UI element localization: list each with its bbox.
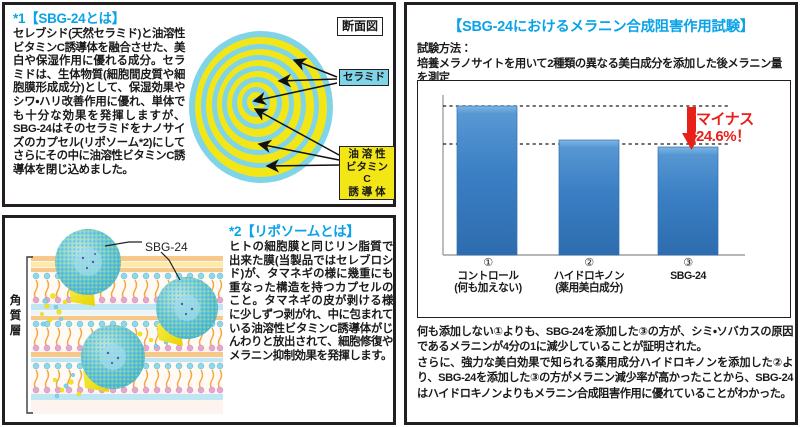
x-axis-label-control: ① コントロール (何も加えない): [442, 257, 534, 295]
skin-layer-diagram: SBG-24: [9, 224, 225, 420]
stratum-corneum-label: 角質層: [9, 294, 22, 339]
x-label-control-line2: (何も加えない): [442, 282, 534, 295]
sbg24-text-block: *1【SBG-24とは】 セレブシド(天然セラミド)と油溶性ビタミンC誘導体を融…: [13, 11, 185, 178]
x-label-sbg24-line1: SBG-24: [642, 270, 734, 283]
x-label-control-line1: コントロール: [442, 270, 534, 283]
chip-vitc-line-2: ビタミンC: [343, 161, 391, 186]
liposome-heading: *2【リポソームとは】: [229, 224, 393, 240]
bar-control: [457, 106, 517, 255]
test-method-block: 試験方法： 培養メラノサイトを用いて2種類の異なる美白成分を添加した後メラニン量…: [417, 42, 789, 86]
sbg24-callout-label: SBG-24: [145, 240, 188, 254]
liposome-text-block: *2【リポソームとは】 ヒトの細胞膜と同じリン脂質で出来た膜(当製品ではセレブロ…: [229, 224, 393, 363]
test-title: 【SBG-24におけるメラニン合成阻害作用試験】: [407, 15, 795, 36]
decrease-annotation-line-2: 24.6%！: [696, 128, 754, 145]
panel-sbg24: *1【SBG-24とは】 セレブシド(天然セラミド)と油溶性ビタミンC誘導体を融…: [2, 2, 396, 207]
panel-liposome: SBG-24 角質層 *2【リポソームとは】 ヒトの細胞膜と同じリン脂質で出来た…: [2, 215, 396, 425]
conclusion-paragraph-1: 何も添加しない①よりも、SBG-24を添加した③の方が、シミ・ソバカスの原因であ…: [417, 325, 793, 356]
conclusion-paragraph-2: さらに、強力な美白効果で知られる薬用成分ハイドロキノンを添加した②より、SBG-…: [417, 356, 793, 402]
sbg24-body: セレブシド(天然セラミド)と油溶性ビタミンC誘導体を融合させた、美白や保湿作用に…: [13, 28, 185, 178]
x-axis-label-sbg24: ③ SBG-24: [642, 257, 734, 282]
label-chip-vitamin-c: 油 溶 性 ビタミンC 誘 導 体: [339, 146, 395, 200]
melanin-bar-chart: マイナス 24.6%！ ① コントロール (何も加えない) ② ハイドロキノン …: [417, 80, 791, 318]
onion-rings: [189, 31, 333, 183]
infographic-root: *1【SBG-24とは】 セレブシド(天然セラミド)と油溶性ビタミンC誘導体を融…: [0, 0, 800, 427]
x-label-hydroquinone-number: ②: [543, 257, 635, 270]
bar-group: [457, 106, 718, 255]
decrease-annotation: マイナス 24.6%！: [696, 111, 754, 145]
x-label-hydroquinone-line2: (薬用美白成分): [543, 282, 635, 295]
panel-melanin-test: 【SBG-24におけるメラニン合成阻害作用試験】 試験方法： 培養メラノサイトを…: [404, 2, 798, 425]
liposome-body: ヒトの細胞膜と同じリン脂質で出来た膜(当製品ではセレブロシド)が、タマネギの様に…: [229, 241, 393, 363]
chip-vitc-line-1: 油 溶 性: [343, 148, 391, 161]
cross-section-badge: 断面図: [337, 17, 383, 36]
onion-cross-section-diagram: [189, 27, 339, 187]
bar-sbg24: [658, 147, 718, 255]
x-axis-label-hydroquinone: ② ハイドロキノン (薬用美白成分): [543, 257, 635, 295]
conclusion-block: 何も添加しない①よりも、SBG-24を添加した③の方が、シミ・ソバカスの原因であ…: [417, 325, 793, 402]
onion-rings-svg: [189, 27, 339, 187]
x-label-hydroquinone-line1: ハイドロキノン: [543, 270, 635, 283]
chip-vitc-line-3: 誘 導 体: [343, 186, 391, 199]
x-label-control-number: ①: [442, 257, 534, 270]
skin-layers-svg: [9, 224, 225, 420]
label-chip-ceramide: セラミド: [339, 69, 389, 86]
sbg24-heading: *1【SBG-24とは】: [13, 11, 185, 27]
decrease-annotation-line-1: マイナス: [696, 111, 754, 128]
x-label-sbg24-number: ③: [642, 257, 734, 270]
test-method-label: 試験方法：: [417, 42, 789, 57]
bar-hydroquinone: [559, 140, 619, 255]
